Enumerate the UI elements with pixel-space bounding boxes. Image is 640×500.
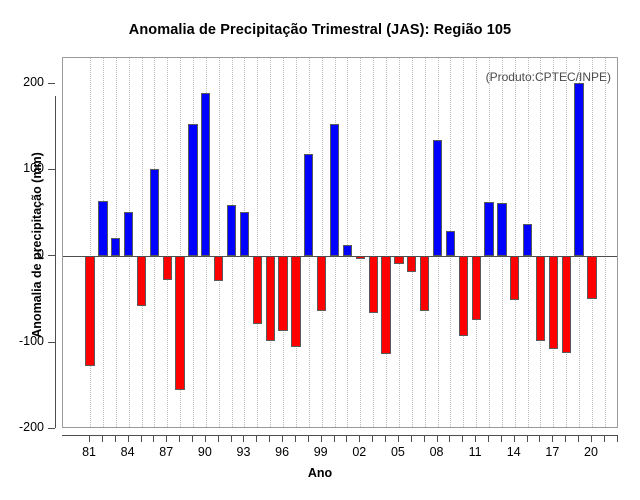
x-axis-tick	[308, 435, 309, 442]
bar[interactable]	[343, 245, 352, 256]
bar[interactable]	[227, 205, 236, 257]
x-axis-tick	[437, 435, 438, 442]
x-axis-tick	[128, 435, 129, 442]
bar[interactable]	[214, 256, 223, 280]
x-axis-tick	[321, 435, 322, 442]
bar[interactable]	[369, 256, 378, 312]
x-axis-tick	[398, 435, 399, 442]
grid-line	[142, 58, 143, 427]
x-axis-tick	[539, 435, 540, 442]
x-axis-title: Ano	[0, 466, 640, 480]
grid-line	[412, 58, 413, 427]
grid-line	[360, 58, 361, 427]
bar[interactable]	[420, 256, 429, 310]
x-axis-tick-label: 81	[69, 445, 109, 459]
x-axis-tick	[102, 435, 103, 442]
bar[interactable]	[278, 256, 287, 330]
bar[interactable]	[446, 231, 455, 256]
x-axis-tick	[334, 435, 335, 442]
x-axis-tick-label: 96	[262, 445, 302, 459]
x-axis-tick-label: 08	[417, 445, 457, 459]
bar[interactable]	[253, 256, 262, 323]
source-annotation: (Produto:CPTEC/INPE)	[486, 70, 611, 84]
bar[interactable]	[201, 93, 210, 256]
zero-baseline	[63, 256, 617, 257]
grid-line	[167, 58, 168, 427]
x-axis-tick	[578, 435, 579, 442]
bar[interactable]	[150, 169, 159, 256]
bar[interactable]	[549, 256, 558, 348]
x-axis-tick-label: 90	[185, 445, 225, 459]
bar[interactable]	[536, 256, 545, 341]
x-axis-tick	[604, 435, 605, 442]
y-axis-tick-label: 100	[0, 161, 44, 175]
x-axis-tick	[617, 435, 618, 442]
grid-line	[515, 58, 516, 427]
bar[interactable]	[240, 212, 249, 256]
grid-line	[425, 58, 426, 427]
x-axis-tick	[231, 435, 232, 442]
x-axis-tick	[166, 435, 167, 442]
grid-line	[322, 58, 323, 427]
grid-line	[373, 58, 374, 427]
y-axis-tick	[48, 169, 55, 170]
x-axis-tick	[411, 435, 412, 442]
grid-line	[605, 58, 606, 427]
x-axis-tick	[243, 435, 244, 442]
x-axis-tick	[462, 435, 463, 442]
chart-title: Anomalia de Precipitação Trimestral (JAS…	[0, 22, 640, 38]
bar[interactable]	[111, 238, 120, 256]
bar[interactable]	[124, 212, 133, 257]
bar[interactable]	[472, 256, 481, 320]
grid-line	[463, 58, 464, 427]
grid-line	[399, 58, 400, 427]
grid-line	[90, 58, 91, 427]
bar[interactable]	[175, 256, 184, 390]
x-axis-tick	[269, 435, 270, 442]
x-axis-tick	[256, 435, 257, 442]
grid-line	[270, 58, 271, 427]
y-axis-tick	[48, 255, 55, 256]
x-axis-tick	[153, 435, 154, 442]
bar[interactable]	[85, 256, 94, 366]
x-axis-tick	[205, 435, 206, 442]
bar[interactable]	[98, 201, 107, 256]
x-axis-tick	[565, 435, 566, 442]
x-axis-tick	[372, 435, 373, 442]
bar[interactable]	[381, 256, 390, 353]
grid-line	[476, 58, 477, 427]
x-axis-tick-label: 99	[301, 445, 341, 459]
bar[interactable]	[304, 154, 313, 257]
bar[interactable]	[574, 83, 583, 256]
grid-line	[386, 58, 387, 427]
x-axis-tick-label: 14	[494, 445, 534, 459]
x-axis-tick	[179, 435, 180, 442]
x-axis-tick-label: 02	[339, 445, 379, 459]
grid-line	[283, 58, 284, 427]
x-axis-tick	[218, 435, 219, 442]
x-axis-tick	[424, 435, 425, 442]
plot-area: (Produto:CPTEC/INPE)	[62, 57, 618, 428]
y-axis-tick	[48, 342, 55, 343]
x-axis-tick	[359, 435, 360, 442]
x-axis-tick	[115, 435, 116, 442]
grid-line	[553, 58, 554, 427]
grid-line	[540, 58, 541, 427]
x-axis-tick	[591, 435, 592, 442]
bar[interactable]	[291, 256, 300, 347]
grid-line	[566, 58, 567, 427]
y-axis-tick-label: -100	[0, 334, 44, 348]
y-axis-tick	[48, 428, 55, 429]
x-axis-tick-label: 05	[378, 445, 418, 459]
x-axis-tick	[192, 435, 193, 442]
bar[interactable]	[266, 256, 275, 341]
bar[interactable]	[587, 256, 596, 298]
x-axis-tick-label: 20	[571, 445, 611, 459]
x-axis-tick	[295, 435, 296, 442]
x-axis-tick	[385, 435, 386, 442]
bar[interactable]	[330, 124, 339, 256]
y-axis-tick-label: 0	[0, 247, 44, 261]
bar[interactable]	[163, 256, 172, 279]
grid-line	[257, 58, 258, 427]
x-axis-tick	[501, 435, 502, 442]
x-axis-tick	[89, 435, 90, 442]
bar[interactable]	[497, 203, 506, 256]
x-axis-tick	[552, 435, 553, 442]
bar[interactable]	[407, 256, 416, 272]
bar[interactable]	[523, 224, 532, 257]
x-axis-tick-label: 93	[223, 445, 263, 459]
bar[interactable]	[562, 256, 571, 353]
y-axis-tick	[48, 83, 55, 84]
grid-line	[296, 58, 297, 427]
precipitation-anomaly-chart: Anomalia de Precipitação Trimestral (JAS…	[0, 0, 640, 500]
x-axis-tick-label: 17	[532, 445, 572, 459]
x-axis-tick	[282, 435, 283, 442]
x-axis-tick	[449, 435, 450, 442]
x-axis-tick	[475, 435, 476, 442]
bar[interactable]	[484, 202, 493, 256]
x-axis-tick	[488, 435, 489, 442]
y-axis-tick-label: -200	[0, 420, 44, 434]
grid-line	[219, 58, 220, 427]
y-axis-tick-label: 200	[0, 75, 44, 89]
x-axis-tick-label: 84	[108, 445, 148, 459]
bar[interactable]	[188, 124, 197, 256]
bar[interactable]	[510, 256, 519, 300]
grid-line	[592, 58, 593, 427]
x-axis-tick-label: 11	[455, 445, 495, 459]
x-axis-tick	[527, 435, 528, 442]
bar[interactable]	[394, 256, 403, 264]
x-axis-tick-label: 87	[146, 445, 186, 459]
bar[interactable]	[433, 140, 442, 256]
y-axis-line	[55, 96, 56, 428]
bar[interactable]	[137, 256, 146, 306]
bar[interactable]	[317, 256, 326, 310]
bar[interactable]	[459, 256, 468, 335]
x-axis-tick	[346, 435, 347, 442]
x-axis-tick	[514, 435, 515, 442]
x-axis-tick	[141, 435, 142, 442]
grid-line	[347, 58, 348, 427]
x-axis-line	[62, 435, 618, 436]
